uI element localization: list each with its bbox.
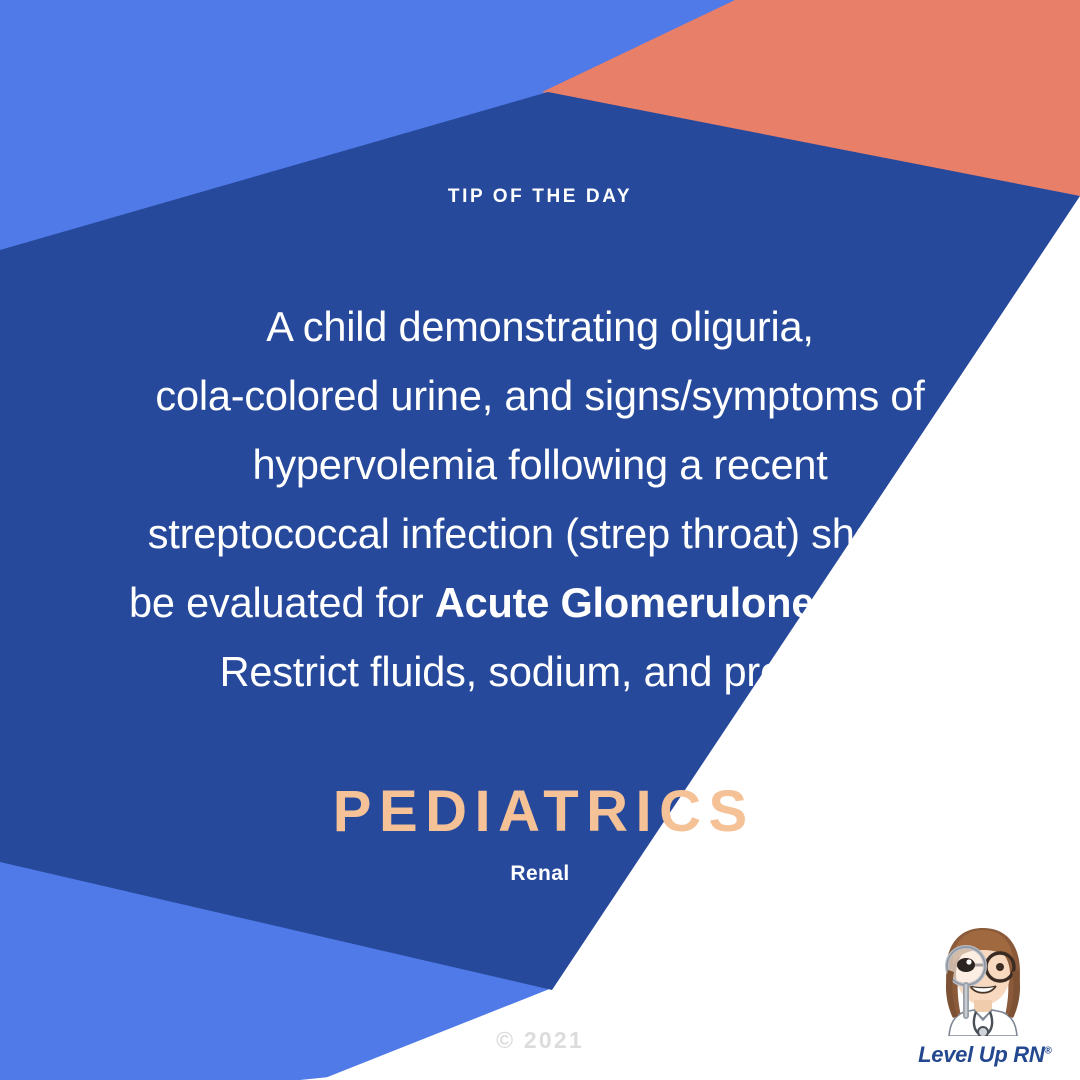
category-title: PEDIATRICS — [0, 778, 1080, 845]
level-up-rn-logo: Level Up RN® — [910, 924, 1060, 1074]
registered-trademark-mark: ® — [1044, 1046, 1051, 1057]
tip-body-text: A child demonstrating oliguria, cola-col… — [60, 292, 1020, 706]
tip-body-line-1: A child demonstrating oliguria, — [60, 292, 1020, 361]
tip-body-line-2: cola-colored urine, and signs/symptoms o… — [60, 361, 1020, 430]
tip-body-line-5: be evaluated for Acute Glomerulonephriti… — [60, 568, 1020, 637]
tip-of-the-day-card: TIP OF THE DAY A child demonstrating oli… — [0, 0, 1080, 1080]
logo-wordmark-text: Level Up RN — [918, 1042, 1044, 1067]
tip-body-line-5-suffix: . — [940, 579, 951, 626]
tip-body-line-4: streptococcal infection (strep throat) s… — [60, 499, 1020, 568]
eyebrow-label: TIP OF THE DAY — [0, 186, 1080, 208]
subcategory-label: Renal — [0, 862, 1080, 886]
tip-body-line-5-prefix: be evaluated for — [129, 579, 435, 626]
logo-wordmark: Level Up RN® — [910, 1042, 1060, 1068]
tip-body-diagnosis: Acute Glomerulonephritis — [435, 579, 940, 626]
tip-body-line-6: Restrict fluids, sodium, and protein. — [60, 637, 1020, 706]
tip-body-line-3: hypervolemia following a recent — [60, 430, 1020, 499]
nurse-with-magnifying-glass-avatar-icon — [924, 924, 1042, 1036]
